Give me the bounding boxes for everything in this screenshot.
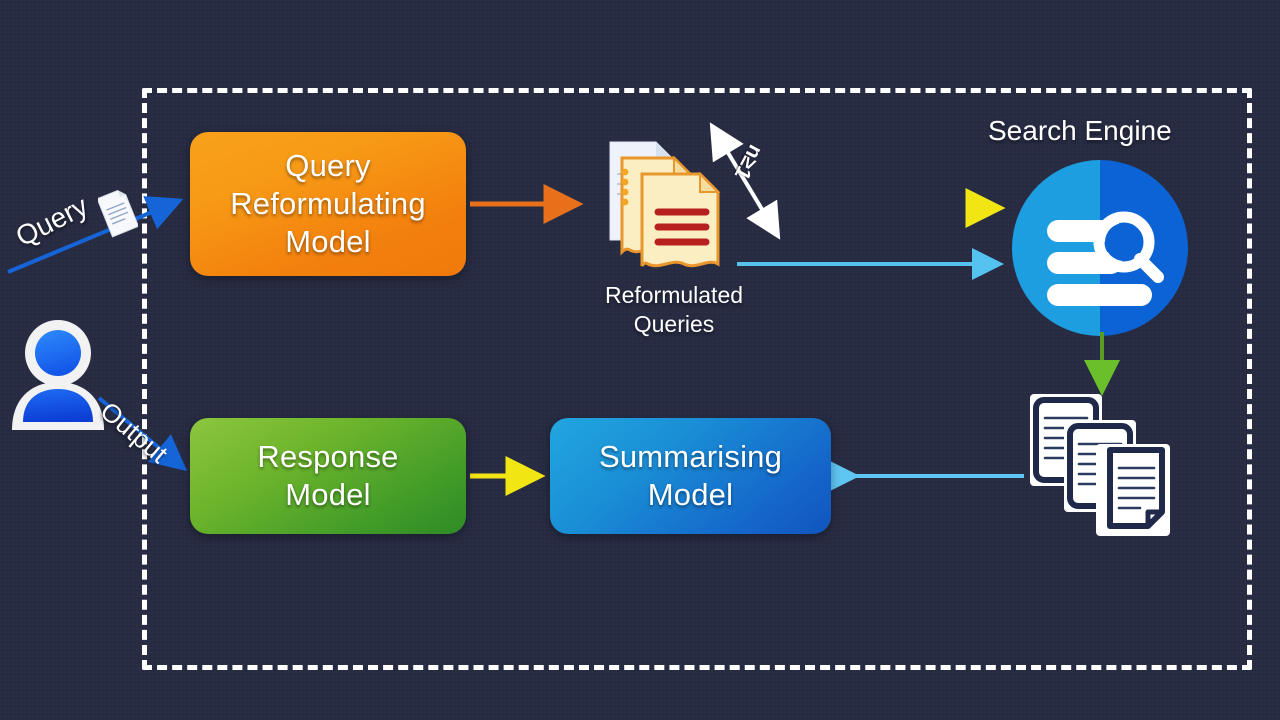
node-summarising-model[interactable]: Summarising Model [550, 418, 831, 534]
node-label-line2: Reformulating [230, 185, 426, 223]
reformulated-queries-label-line1: Reformulated [594, 281, 754, 310]
retrieved-documents-icon [1026, 392, 1174, 538]
edge-queries-to-search-bottom-arrow [736, 252, 1022, 276]
node-response-model[interactable]: Response Model [190, 418, 466, 534]
search-engine-icon[interactable] [1012, 160, 1188, 336]
edge-reformulate-to-queries-arrow [468, 192, 593, 216]
node-label-line2: Model [599, 476, 782, 514]
edge-summarising-to-response-arrow [468, 464, 560, 488]
node-label-line1: Response [257, 438, 398, 476]
node-label-line3: Model [230, 223, 426, 261]
node-query-reformulating-model[interactable]: Query Reformulating Model [190, 132, 466, 276]
search-engine-label: Search Engine [988, 115, 1172, 147]
reformulated-queries-label-line2: Queries [594, 310, 754, 339]
reformulated-queries-label: Reformulated Queries [594, 281, 754, 340]
edge-queries-to-search-top-arrow [736, 196, 1022, 220]
node-label-line2: Model [257, 476, 398, 514]
query-document-icon [98, 188, 138, 238]
edge-documents-to-summarising-arrow [832, 464, 1030, 488]
node-label-line1: Summarising [599, 438, 782, 476]
diagram-canvas: Query Output Query Reformulating Model [0, 0, 1280, 720]
node-label-line1: Query [230, 147, 426, 185]
